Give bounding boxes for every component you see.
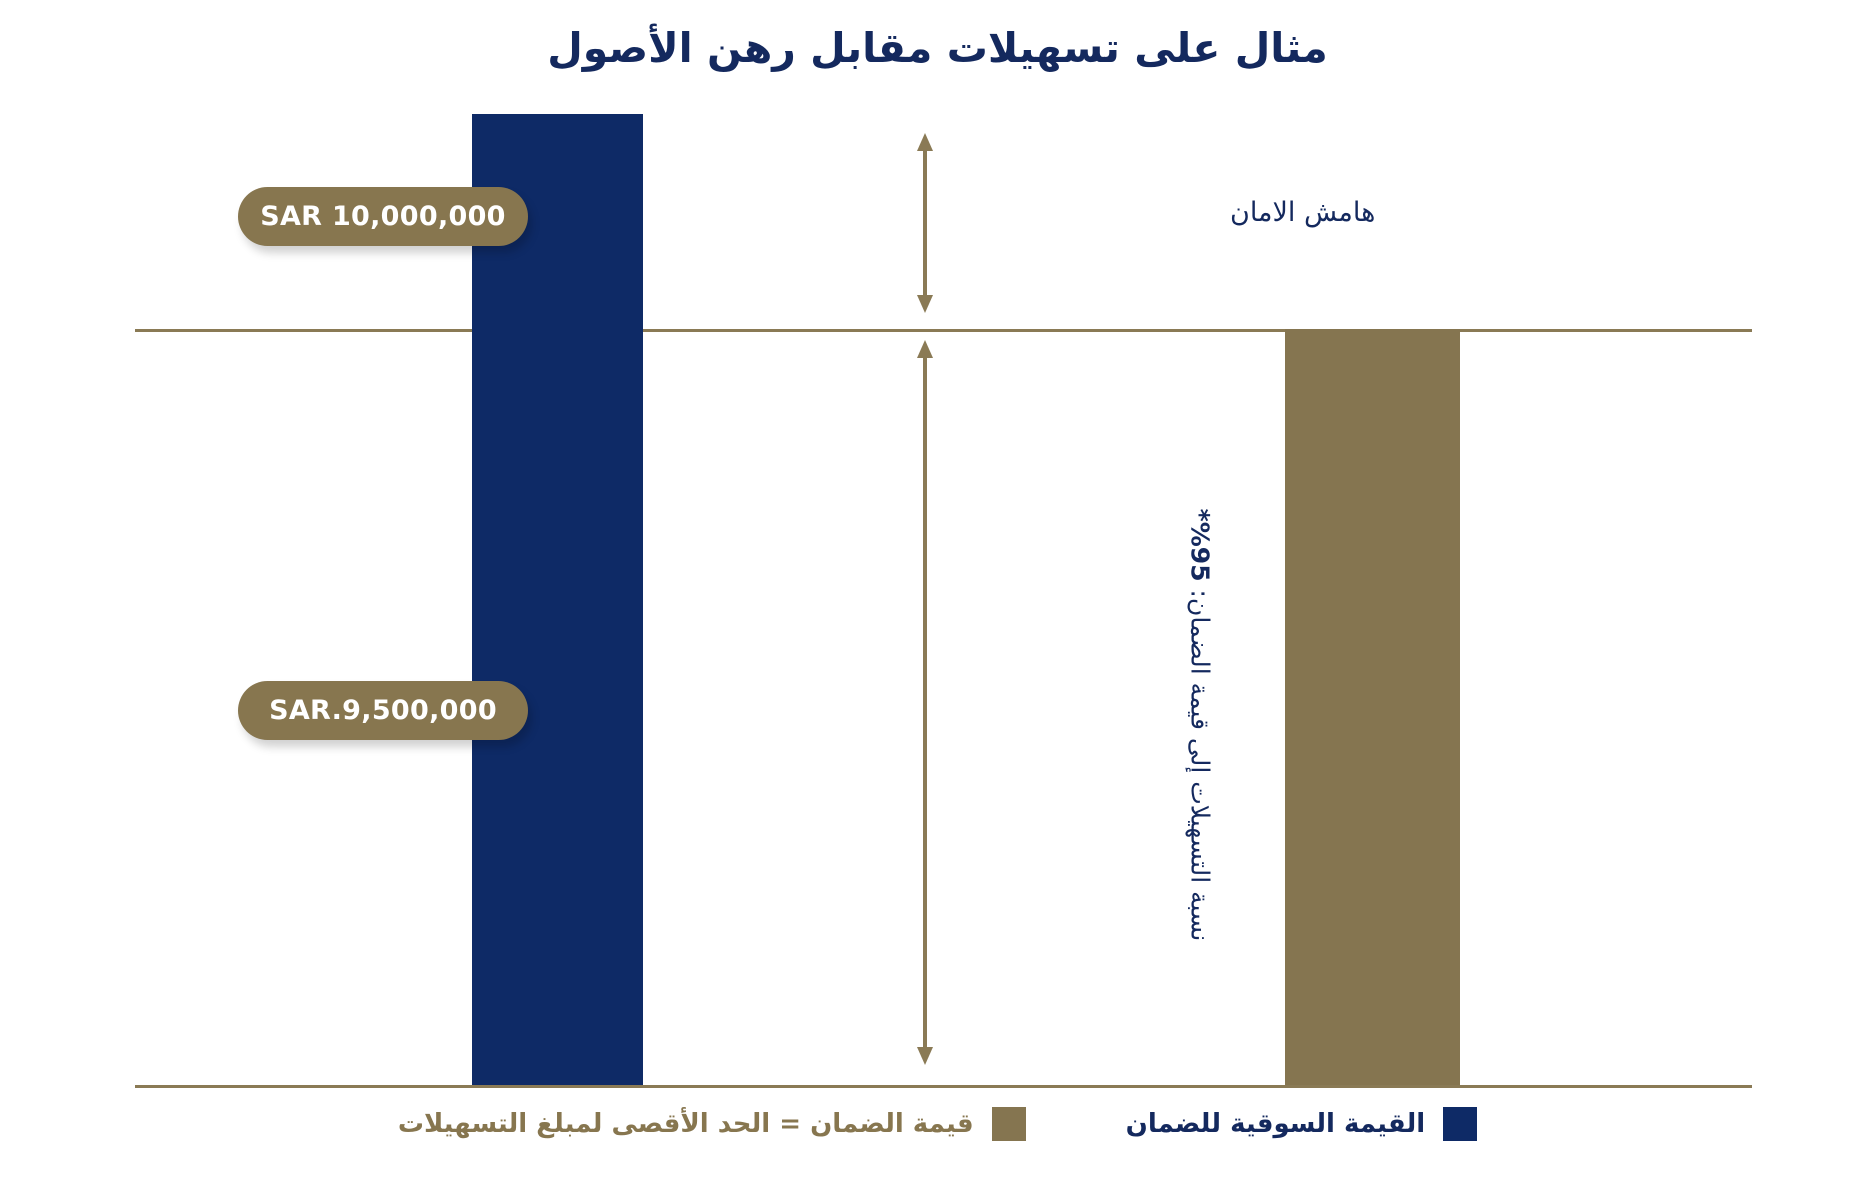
chart-canvas: مثال على تسهيلات مقابل رهن الأصول SAR 10… xyxy=(0,0,1875,1196)
chart-legend: القيمة السوقية للضمان قيمة الضمان = الحد… xyxy=(0,1107,1875,1141)
loan-to-value-text: نسبة التسهيلات إلى قيمة الضمان: xyxy=(1186,582,1215,942)
loan-to-value-double-arrow-icon xyxy=(912,340,938,1065)
facility-level-reference-line xyxy=(135,329,1752,332)
safety-margin-label: هامش الامان xyxy=(1230,197,1550,228)
baseline-reference-line xyxy=(135,1085,1752,1088)
legend-swatch-gold xyxy=(992,1107,1026,1141)
value-pill-collateral-market-value: SAR 10,000,000 xyxy=(238,187,528,246)
bar-collateral-market-value xyxy=(472,114,643,1085)
loan-to-value-label: نسبة التسهيلات إلى قيمة الضمان: 95%* xyxy=(1186,509,1215,942)
bar-maximum-facility-amount xyxy=(1285,329,1460,1085)
legend-label-maximum-facility-amount: قيمة الضمان = الحد الأقصى لمبلغ التسهيلا… xyxy=(398,1109,974,1139)
safety-margin-double-arrow-icon xyxy=(912,133,938,313)
legend-label-collateral-market-value: القيمة السوقية للضمان xyxy=(1126,1109,1426,1139)
legend-item-collateral-market-value: القيمة السوقية للضمان xyxy=(1126,1107,1478,1141)
legend-item-maximum-facility-amount: قيمة الضمان = الحد الأقصى لمبلغ التسهيلا… xyxy=(398,1107,1026,1141)
value-pill-facility-amount: SAR.9,500,000 xyxy=(238,681,528,740)
plot-area: SAR 10,000,000 SAR.9,500,000 هامش الامان… xyxy=(0,0,1875,1196)
legend-swatch-navy xyxy=(1443,1107,1477,1141)
loan-to-value-percent: 95%* xyxy=(1186,509,1215,582)
loan-to-value-label-wrap: نسبة التسهيلات إلى قيمة الضمان: 95%* xyxy=(1170,430,1230,1020)
